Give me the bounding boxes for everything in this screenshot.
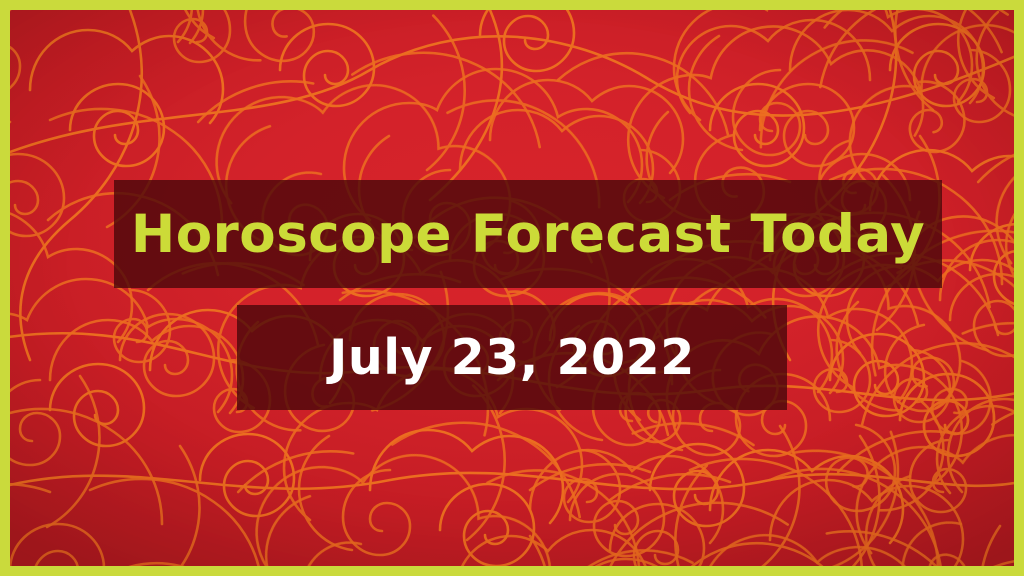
slide-canvas: Horoscope Forecast Today July 23, 2022 (10, 10, 1014, 566)
date-banner: July 23, 2022 (237, 305, 787, 410)
horoscope-slide: Horoscope Forecast Today July 23, 2022 (0, 0, 1024, 576)
date-text: July 23, 2022 (329, 333, 695, 382)
page-title: Horoscope Forecast Today (131, 208, 925, 261)
title-banner: Horoscope Forecast Today (114, 180, 942, 288)
chinese-cloud-swirl-pattern (10, 10, 1014, 566)
